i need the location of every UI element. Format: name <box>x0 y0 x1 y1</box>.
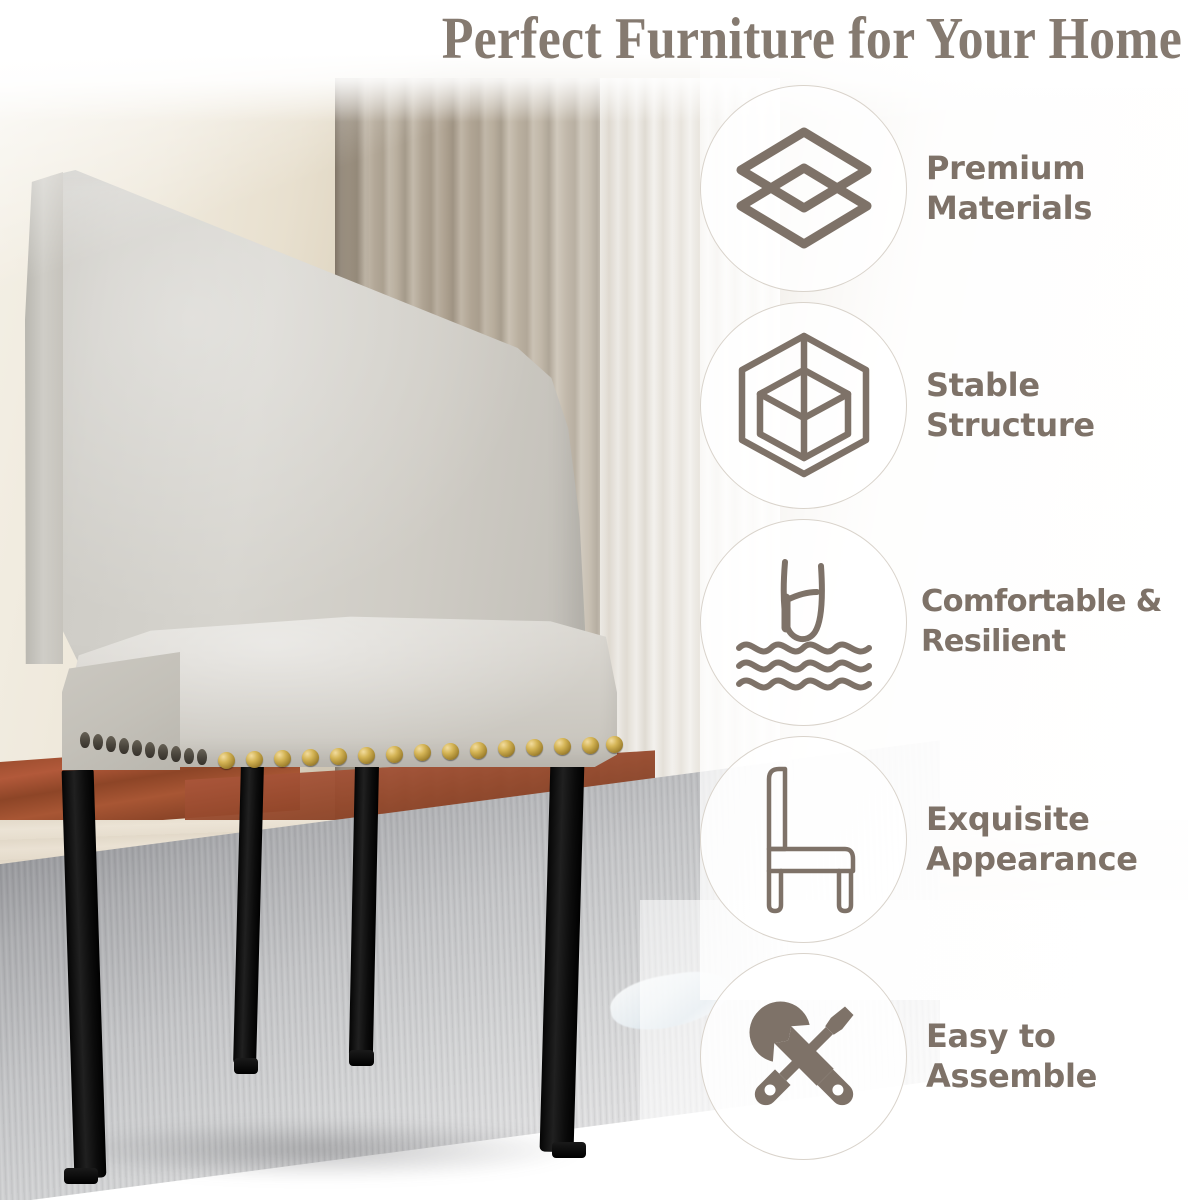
chair-leg-back-right <box>349 758 379 1058</box>
page-title: Perfect Furniture for Your Home <box>270 2 1182 75</box>
feature-label-comfortable-resilient: Comfortable & Resilient <box>921 582 1162 662</box>
feature-label-stable-structure: Stable Structure <box>926 365 1095 445</box>
chair-leg-front-right <box>540 760 585 1153</box>
stacked-layers-icon <box>734 122 874 254</box>
isometric-cube-icon <box>736 330 872 480</box>
feature-item-easy-to-assemble[interactable]: Easy to Assemble <box>700 950 1188 1162</box>
feature-item-comfortable-resilient[interactable]: Comfortable & Resilient <box>700 516 1188 728</box>
nailhead-trim <box>78 726 618 768</box>
chair-leg-back-left <box>233 765 264 1065</box>
chair-side-view-icon <box>741 763 867 915</box>
feature-badge-stable-structure <box>700 302 907 509</box>
product-feature-graphic: Perfect Furniture for Your Home Premium … <box>0 0 1188 1200</box>
dining-chair <box>0 0 700 1200</box>
feature-label-exquisite-appearance: Exquisite Appearance <box>926 799 1138 879</box>
chair-backrest-edge <box>25 172 63 664</box>
feature-badge-easy-to-assemble <box>700 953 907 1160</box>
feature-badge-exquisite-appearance <box>700 736 907 943</box>
chair-shadow <box>60 1120 580 1180</box>
chair-backrest <box>25 168 585 668</box>
feature-item-exquisite-appearance[interactable]: Exquisite Appearance <box>700 733 1188 945</box>
chair-foot-front-right <box>552 1142 586 1158</box>
feature-item-premium-materials[interactable]: Premium Materials <box>700 82 1188 294</box>
chair-foot-back-right <box>349 1050 374 1066</box>
feature-badge-premium-materials <box>700 85 907 292</box>
chair-foot-front-left <box>64 1168 98 1184</box>
feature-label-premium-materials: Premium Materials <box>926 148 1092 228</box>
chair-leg-front-left <box>62 770 107 1179</box>
feature-item-stable-structure[interactable]: Stable Structure <box>700 299 1188 511</box>
feature-label-easy-to-assemble: Easy to Assemble <box>926 1016 1097 1096</box>
chair-foot-back-left <box>234 1058 258 1074</box>
feature-badge-comfortable-resilient <box>700 519 907 726</box>
feature-list: Premium Materials Stable Structure <box>700 78 1188 1188</box>
screwdriver-wrench-icon <box>734 986 874 1126</box>
feather-waves-icon <box>729 552 879 692</box>
